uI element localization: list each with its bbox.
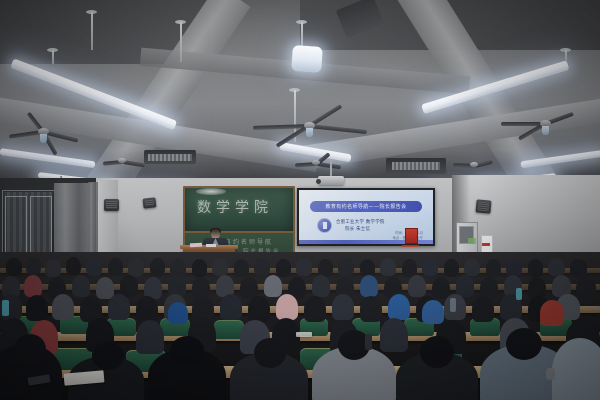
blackboard-glare [196,188,226,195]
audience-member [264,275,282,297]
fire-alarm-box [405,228,418,244]
audience-member [96,277,114,299]
blackboard-title: 数学学院 [197,197,273,217]
audience-member [444,259,459,277]
audience-member [570,259,587,277]
water-bottle [2,300,9,316]
ceiling [0,0,600,200]
wall-speaker [475,199,491,213]
audience-member [212,258,228,276]
audience-member [506,258,522,276]
audience-member [120,275,138,297]
audience-member [45,259,61,277]
audience-member [234,259,249,277]
audience-head [14,334,46,364]
audience-head [170,336,204,366]
water-bottle [365,334,372,350]
audience-member [136,296,158,322]
pendant-light [291,45,323,73]
wall-stripe [402,245,419,247]
audience-member [108,258,123,276]
audience-member [276,259,291,277]
projector [318,176,344,185]
audience-member [24,275,42,297]
audience-member [332,294,354,320]
audience-member [276,294,298,320]
audience-member [422,258,438,276]
audience-member [528,259,543,277]
thermos [546,368,555,380]
audience-member [220,294,242,320]
projector-lens-icon [316,179,321,184]
light-rod [180,22,182,62]
audience-head [92,342,124,370]
audience-member [66,257,81,275]
audience-member [254,258,270,276]
audience-member [108,294,130,320]
vent-grille [392,162,440,170]
audience-member [52,294,74,320]
lecture-hall-photo: 数学学院 教育有约名师导航 院长报告会 教育有约名师导航——院长报告会 合肥工业… [0,0,600,400]
podium-papers [206,244,216,247]
audience-member [486,259,501,277]
audience-member [136,320,164,354]
light-rod [52,50,54,64]
audience-member [168,302,188,324]
audience-member [6,258,22,276]
audience-member-foreground [552,338,600,400]
audience-member [72,275,90,297]
wall-speaker [104,199,119,211]
light-rod [301,22,303,48]
audience-member [388,294,410,320]
audience-member [540,300,564,326]
wall-poster-green [468,238,476,244]
audience-member [380,258,396,276]
audience-member [464,258,480,276]
audience-member [86,258,102,276]
audience-member [422,300,444,324]
audience-member [312,275,330,297]
water-bottle [516,288,522,300]
audience-head [506,328,542,360]
audience-member [150,258,165,276]
audience-member [432,277,450,299]
audience-member [360,296,382,322]
audience-member [380,318,408,352]
audience-head [254,338,286,368]
water-bottle [450,298,456,312]
audience-member [472,296,494,322]
audience-member [548,258,565,276]
notebook [296,332,312,337]
audience-member [296,258,312,276]
podium-papers [190,243,202,248]
audience-member [360,275,378,297]
audience-member [248,296,270,322]
light-rod [91,12,93,50]
audience-member [26,257,41,275]
audience-member [408,275,426,297]
audience-member [192,259,207,277]
audience-member [338,258,354,276]
audience-member [304,296,326,322]
vent-grille [148,154,192,161]
wall-poster-red [482,243,490,246]
audience-member [576,277,596,299]
wall-speaker [143,197,157,208]
audience-member [26,295,48,321]
audience-head [420,336,454,368]
audience-member [456,275,474,297]
